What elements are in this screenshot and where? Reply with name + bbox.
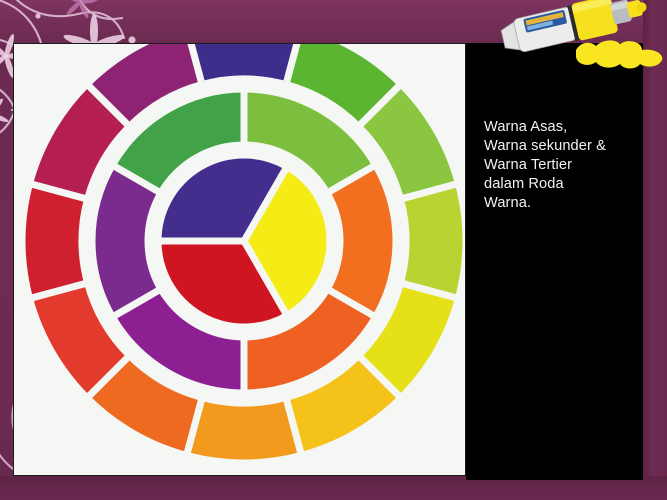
tertiary-segment-5 — [187, 397, 302, 463]
slide-background-right-band — [643, 0, 667, 500]
slide-canvas: Warna Asas, Warna sekunder & Warna Terti… — [0, 0, 667, 500]
tertiary-segment-8 — [22, 184, 88, 299]
caption-text: Warna Asas, Warna sekunder & Warna Terti… — [484, 118, 634, 213]
tertiary-segment-2 — [400, 184, 466, 299]
color-wheel-image-panel — [13, 43, 466, 476]
caption-panel: Warna Asas, Warna sekunder & Warna Terti… — [466, 43, 643, 480]
slide-background-top-band — [0, 0, 667, 44]
color-wheel-rings — [22, 43, 466, 463]
color-wheel-graphic — [13, 43, 466, 476]
color-wheel-clip — [13, 43, 466, 476]
